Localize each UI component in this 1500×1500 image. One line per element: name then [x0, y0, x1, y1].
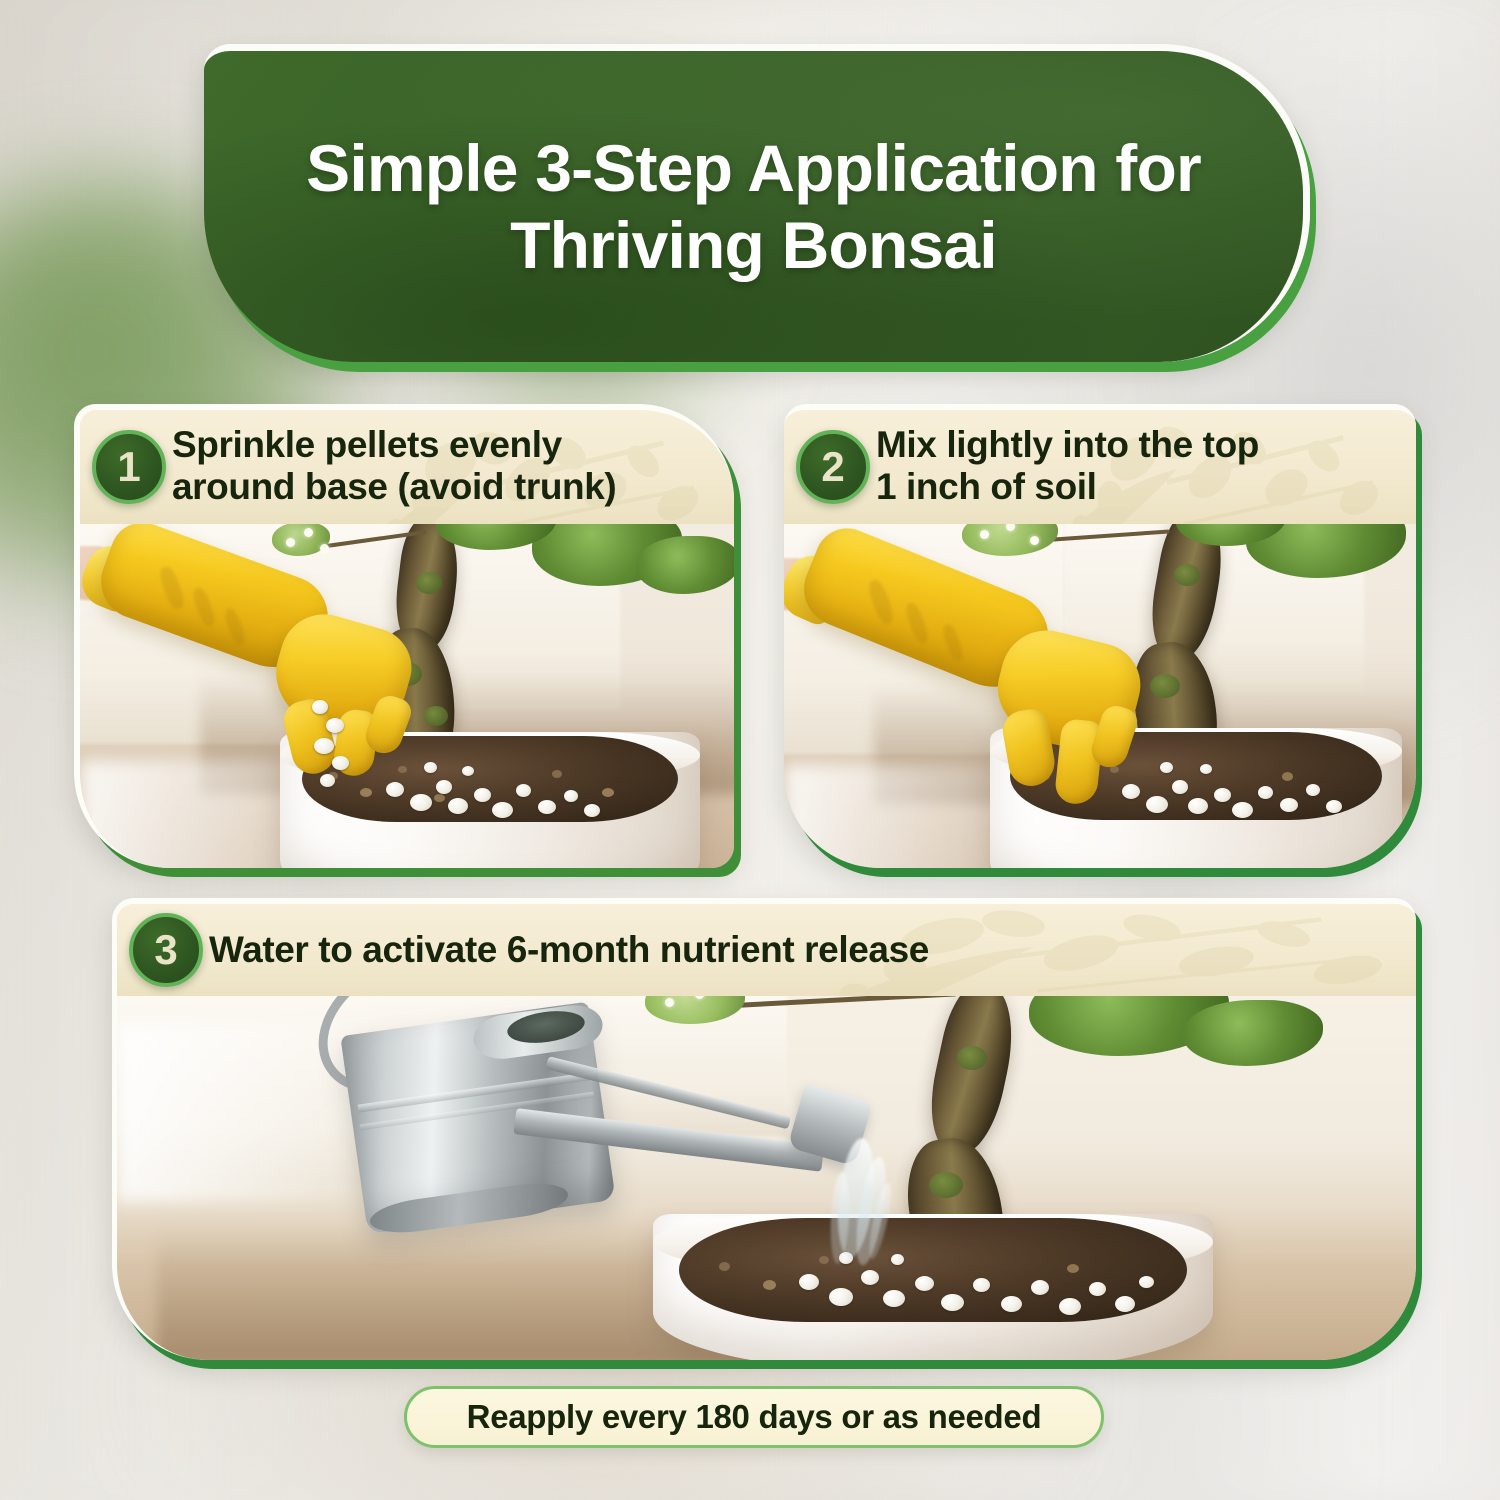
- infographic-page: Simple 3-Step Application for Thriving B…: [0, 0, 1500, 1500]
- step-3-number-badge: 3: [129, 913, 203, 987]
- bonsai-blossom-1: [665, 998, 674, 1007]
- trunk-moss-1: [957, 1046, 987, 1070]
- bonsai-leaves-far-right: [636, 536, 734, 594]
- step-2-caption-bar: 2 Mix lightly into the top 1 inch of soi…: [784, 410, 1416, 524]
- step-1-scene: [80, 524, 734, 868]
- step-2-photo: [784, 524, 1416, 868]
- footer-reapply-banner: Reapply every 180 days or as needed: [404, 1386, 1104, 1448]
- footer-text: Reapply every 180 days or as needed: [467, 1398, 1042, 1436]
- step-1-caption-bar: 1 Sprinkle pellets evenly around base (a…: [80, 410, 734, 524]
- step-card-3: 3 Water to activate 6-month nutrient rel…: [112, 898, 1416, 1360]
- step-1-caption-text: Sprinkle pellets evenly around base (avo…: [172, 424, 616, 508]
- step-1-number-badge: 1: [92, 430, 166, 504]
- step-card-1: 1 Sprinkle pellets evenly around base (a…: [74, 404, 734, 868]
- step-3-scene: [117, 996, 1416, 1360]
- header-banner: Simple 3-Step Application for Thriving B…: [204, 44, 1310, 362]
- step-3-caption-text: Water to activate 6-month nutrient relea…: [209, 929, 929, 971]
- step-2-scene: [784, 524, 1416, 868]
- step-1-photo: [80, 524, 734, 868]
- step-card-2: 2 Mix lightly into the top 1 inch of soi…: [784, 404, 1416, 868]
- step-3-photo: [117, 996, 1416, 1360]
- page-title: Simple 3-Step Application for Thriving B…: [204, 130, 1303, 283]
- step-3-caption-bar: 3 Water to activate 6-month nutrient rel…: [117, 904, 1416, 996]
- pot-soil: [679, 1218, 1187, 1322]
- step-2-number-badge: 2: [796, 430, 870, 504]
- step-2-caption-text: Mix lightly into the top 1 inch of soil: [876, 424, 1259, 508]
- trunk-moss-2: [929, 1172, 963, 1198]
